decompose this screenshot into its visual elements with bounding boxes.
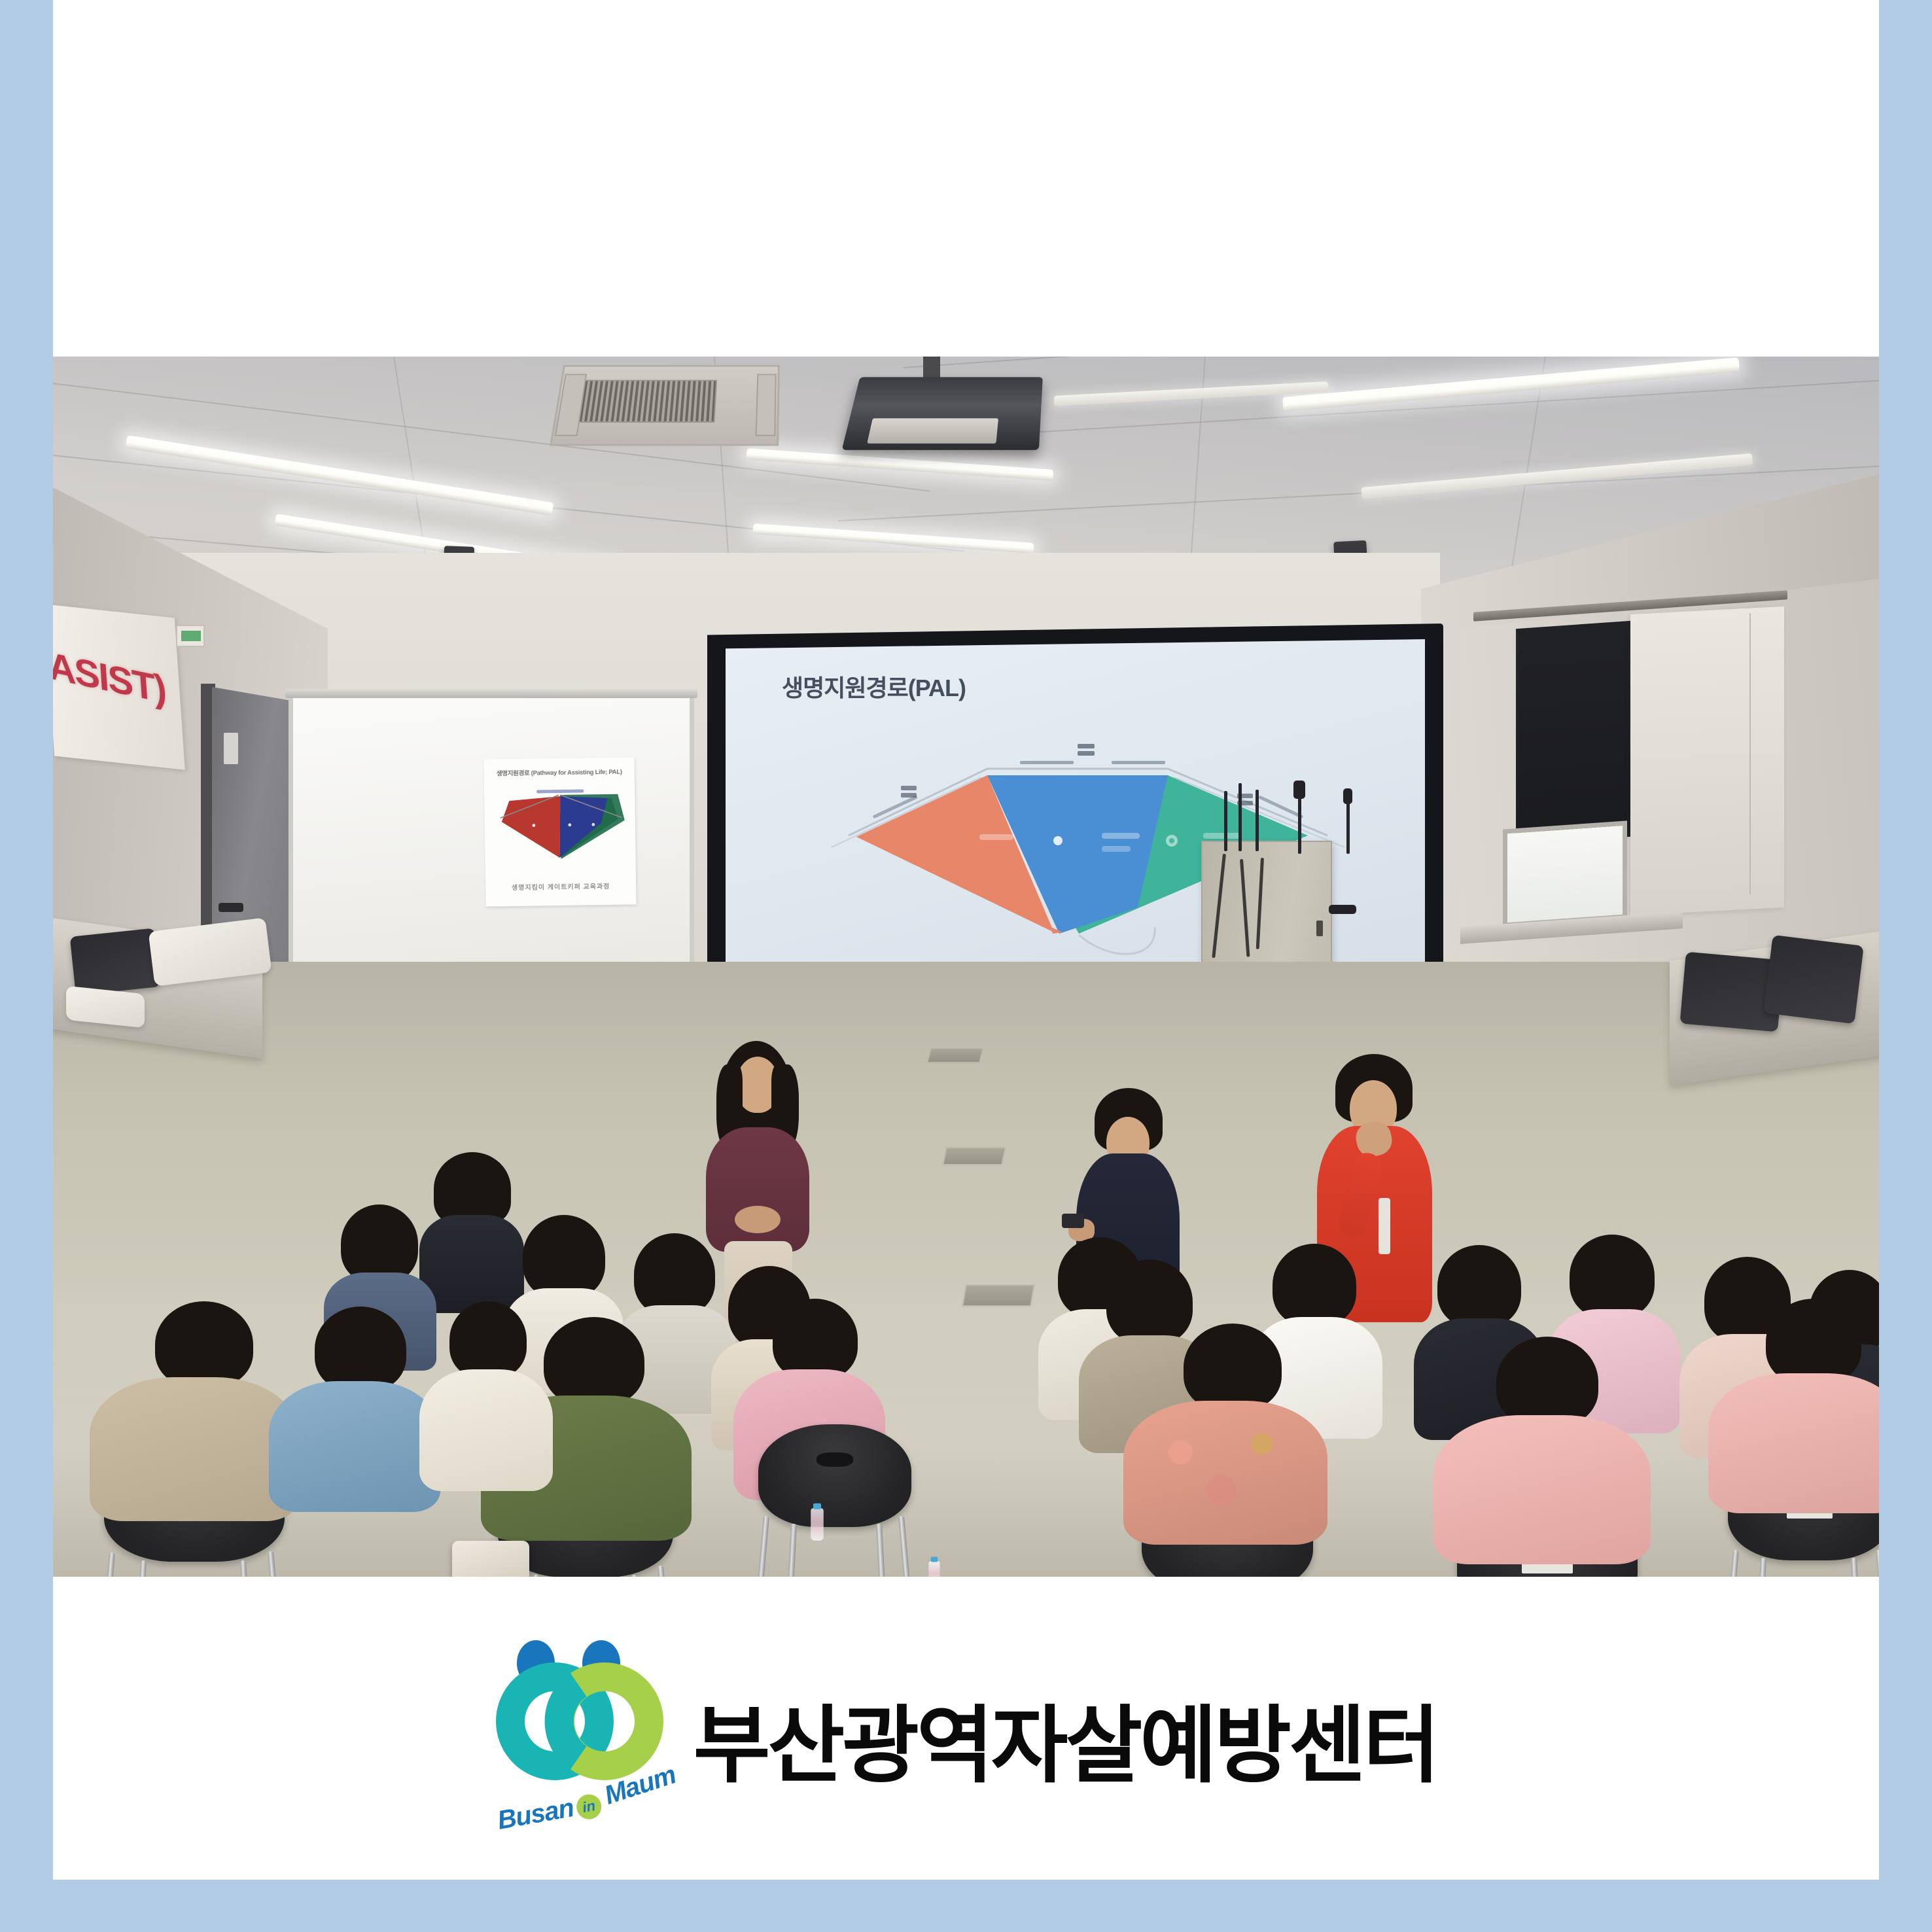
door-handle[interactable] xyxy=(219,903,243,912)
organization-logo: Busan in Maum xyxy=(495,1640,665,1836)
chair-leg xyxy=(1755,1558,1766,1577)
audience-member xyxy=(419,1301,550,1484)
slide-title: 생명지원경로(PAL) xyxy=(782,669,966,703)
beige-jacket xyxy=(90,1377,299,1521)
window-blind-dark[interactable] xyxy=(1516,621,1630,845)
chair-leg xyxy=(1725,1550,1739,1577)
asist-banner: ASIST) xyxy=(53,604,185,769)
hair xyxy=(1273,1244,1356,1326)
poster-diagram-icon xyxy=(496,786,625,866)
bottle-cap xyxy=(931,1557,938,1562)
organization-name: 부산광역자살예방센터 xyxy=(694,1677,1438,1799)
handbag xyxy=(452,1541,529,1577)
patterned-blouse xyxy=(1123,1401,1327,1545)
chair-leg xyxy=(876,1524,887,1577)
chair-back xyxy=(758,1424,911,1527)
audience-member xyxy=(1433,1337,1649,1559)
whiteboard-tray xyxy=(285,689,697,698)
pink-jacket xyxy=(1708,1373,1879,1513)
hair xyxy=(155,1301,253,1388)
footer-branding: Busan in Maum 부산광역자살예방센터 xyxy=(53,1577,1879,1880)
hair xyxy=(634,1233,715,1316)
chair-leg xyxy=(1876,1550,1879,1577)
hair xyxy=(544,1317,644,1406)
chair-leg xyxy=(786,1524,797,1577)
water-bottle[interactable] xyxy=(928,1561,940,1577)
logo-tagline-busan: Busan xyxy=(495,1793,576,1836)
chair-leg xyxy=(898,1516,911,1577)
door-plate xyxy=(224,733,238,764)
hair xyxy=(449,1301,527,1379)
hair xyxy=(773,1299,858,1380)
hair xyxy=(341,1204,418,1283)
banner-text: ASIST) xyxy=(53,643,181,715)
floor-outlet xyxy=(926,1047,984,1063)
microphone xyxy=(1343,788,1352,804)
ac-vent xyxy=(550,365,780,446)
projector xyxy=(842,377,1043,449)
audience-member xyxy=(1708,1299,1879,1508)
floor-outlet xyxy=(942,1147,1006,1165)
microphone-stand xyxy=(1224,791,1227,851)
chair-leg xyxy=(268,1551,281,1577)
chair-leg xyxy=(658,1566,671,1577)
microphone-stand xyxy=(1346,803,1350,854)
hands xyxy=(735,1206,781,1233)
hair xyxy=(523,1215,605,1299)
microphone-stand xyxy=(1238,783,1242,851)
cabinet-handle[interactable] xyxy=(1316,921,1323,936)
window xyxy=(1503,820,1627,927)
audience-member xyxy=(1123,1324,1326,1539)
poster-title: 생명지원경로 (Pathway for Assisting Life; PAL) xyxy=(489,767,629,778)
chair-leg xyxy=(135,1560,147,1577)
hair xyxy=(1184,1324,1282,1411)
event-photo: ASIST) 생명지원경로 (Pathway for Assisting Lif… xyxy=(53,357,1879,1577)
blind-cord[interactable] xyxy=(1749,613,1751,894)
poster-footer: 생명지킴이 게이트키퍼 교육과정 xyxy=(491,880,631,892)
hair xyxy=(315,1307,406,1392)
hair xyxy=(1496,1337,1598,1427)
audience-member xyxy=(90,1301,299,1517)
chair-handle-slot xyxy=(817,1452,853,1467)
chair-leg xyxy=(1851,1558,1862,1577)
hair xyxy=(1570,1235,1655,1318)
chair-leg xyxy=(756,1516,769,1577)
photo-card: ASIST) 생명지원경로 (Pathway for Assisting Lif… xyxy=(53,0,1879,1880)
chair[interactable] xyxy=(758,1424,911,1577)
exit-sign xyxy=(176,625,205,647)
phone[interactable] xyxy=(1062,1214,1084,1228)
floor-outlet xyxy=(962,1284,1035,1307)
bag xyxy=(70,928,161,995)
hair xyxy=(1437,1245,1521,1327)
audience-member xyxy=(269,1307,439,1503)
window-blind-light[interactable] xyxy=(1630,606,1784,915)
logo-rings-icon xyxy=(495,1656,665,1787)
denim-jacket xyxy=(269,1381,440,1512)
microphone-stand xyxy=(1298,796,1301,854)
bag xyxy=(1763,935,1864,1024)
pal-poster: 생명지원경로 (Pathway for Assisting Life; PAL)… xyxy=(483,757,636,906)
microphone xyxy=(1329,905,1356,914)
microphone-stand xyxy=(1256,790,1259,851)
logo-tagline-in: in xyxy=(574,1792,603,1821)
hair xyxy=(1766,1299,1861,1385)
bottle-cap xyxy=(813,1503,821,1509)
torso xyxy=(419,1369,553,1491)
chair-leg xyxy=(240,1560,251,1577)
water-bottle[interactable] xyxy=(811,1508,824,1541)
pink-jacket xyxy=(1433,1415,1651,1564)
